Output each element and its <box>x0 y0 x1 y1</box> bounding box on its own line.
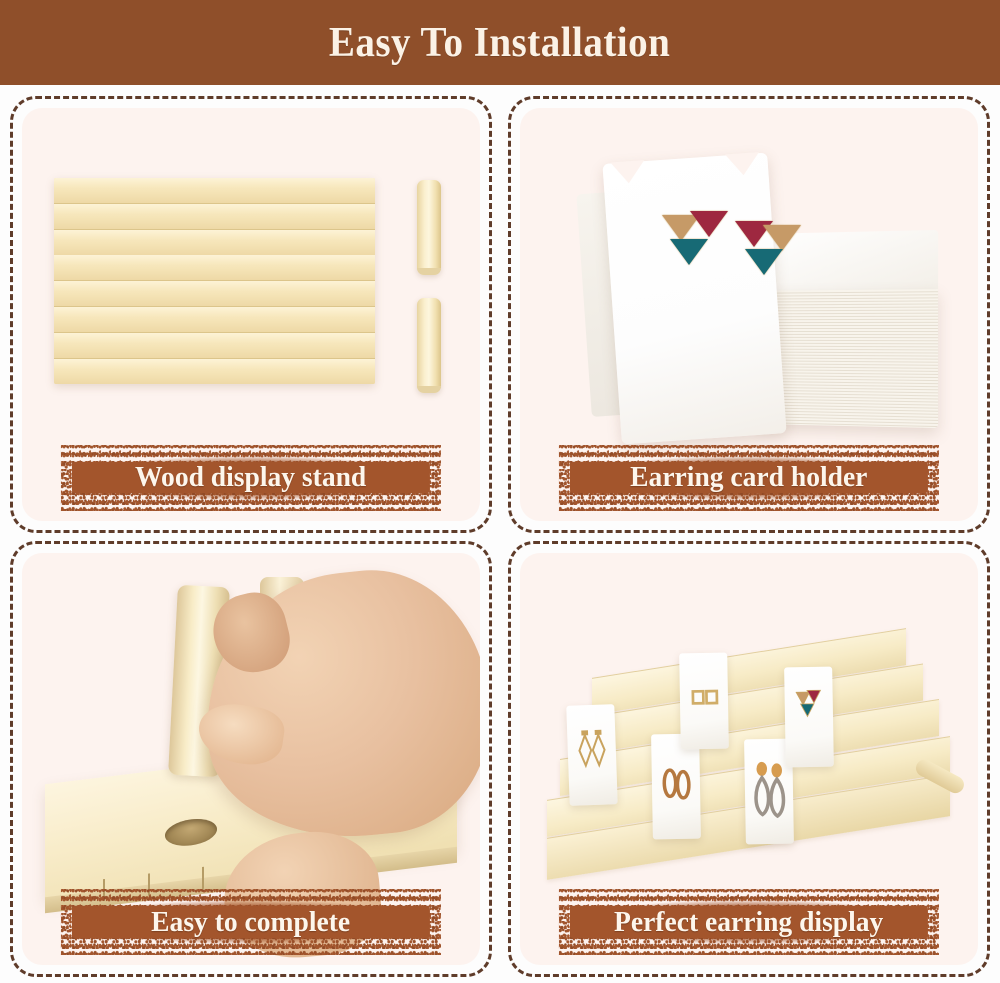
panel-easy-to-complete: Easy to complete <box>10 541 492 978</box>
triangle-stud-earring-icon <box>784 667 834 768</box>
board-slat <box>54 204 375 230</box>
display-card-brown-oval <box>651 734 701 840</box>
board-slat <box>54 178 375 204</box>
header-band: Easy To Installation <box>0 0 1000 85</box>
brown-oval-earring-icon <box>651 734 701 840</box>
panel-inner: Easy to complete <box>22 553 480 966</box>
caption-banner: Earring card holder <box>559 445 939 511</box>
earring-card-front <box>602 152 786 443</box>
board-slat <box>54 307 375 333</box>
panel-inner: Perfect earring display <box>520 553 978 966</box>
board-slat <box>54 359 375 385</box>
panel-perfect-earring-display: Perfect earring display <box>508 541 990 978</box>
display-card-triangle-studs <box>784 667 834 768</box>
panel-inner: Wood display stand <box>22 108 480 521</box>
wood-dowel <box>417 180 441 275</box>
panel-grid: Wood display stand <box>0 92 1000 983</box>
caption-label: Easy to complete <box>152 906 351 939</box>
caption-banner: Easy to complete <box>61 889 441 955</box>
wood-board <box>54 178 375 384</box>
gold-square-hoop-earring-icon <box>680 652 730 749</box>
display-card-gold-square-hoop <box>680 652 730 749</box>
board-groove <box>202 866 204 888</box>
triangle-earring-teal-icon <box>670 239 708 265</box>
display-card-gold-geometric <box>566 705 618 807</box>
caption-banner: Wood display stand <box>61 445 441 511</box>
triangle-earring-burgundy-icon <box>690 211 728 237</box>
board-slat <box>54 230 375 256</box>
board-slat <box>54 333 375 359</box>
caption-label: Wood display stand <box>135 461 366 494</box>
panel-inner: Earring card holder <box>520 108 978 521</box>
panel-earring-card-holder: Earring card holder <box>508 96 990 533</box>
card-notch-right <box>724 152 759 176</box>
board-slat <box>54 255 375 281</box>
triangle-earring-tan-icon <box>763 225 801 251</box>
dowel-hole <box>164 816 216 848</box>
caption-label: Earring card holder <box>630 461 867 494</box>
panel-wood-display-stand: Wood display stand <box>10 96 492 533</box>
assembled-stand <box>547 643 950 882</box>
board-slat <box>54 281 375 307</box>
wood-dowel <box>417 298 441 393</box>
triangle-earring-teal-icon <box>745 249 783 275</box>
page-title: Easy To Installation <box>329 19 670 67</box>
card-notch-left <box>610 160 645 184</box>
gold-geometric-drop-earring-icon <box>566 705 618 807</box>
infographic-page: Easy To Installation <box>0 0 1000 983</box>
caption-label: Perfect earring display <box>614 906 883 939</box>
caption-banner: Perfect earring display <box>559 889 939 955</box>
